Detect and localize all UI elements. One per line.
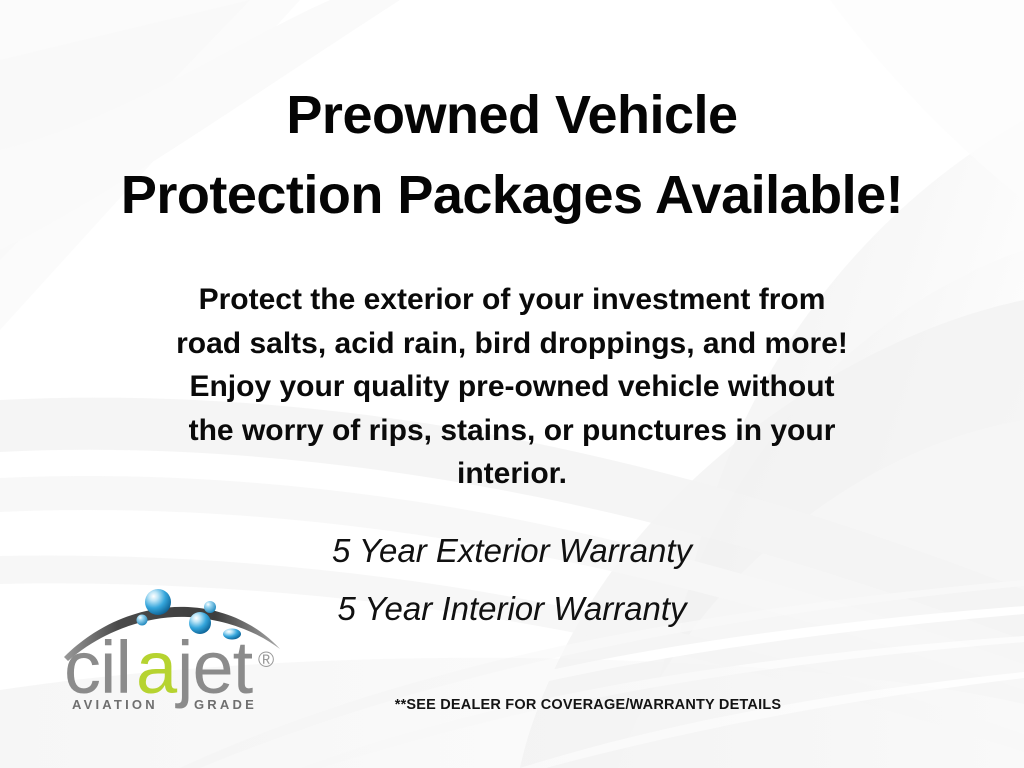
slide-canvas: Preowned Vehicle Protection Packages Ava… [0,0,1024,768]
page-title: Preowned Vehicle Protection Packages Ava… [0,76,1024,236]
logo-tagline-aviation: AVIATION [72,697,158,712]
body-copy: Protect the exterior of your investment … [0,278,1024,496]
logo-registered-icon: ® [258,647,274,672]
warranty-exterior: 5 Year Exterior Warranty [0,534,1024,567]
cilajet-logo: cil a jet ® AVIATION GRADE [58,583,290,713]
logo-tagline-grade: GRADE [194,697,257,712]
